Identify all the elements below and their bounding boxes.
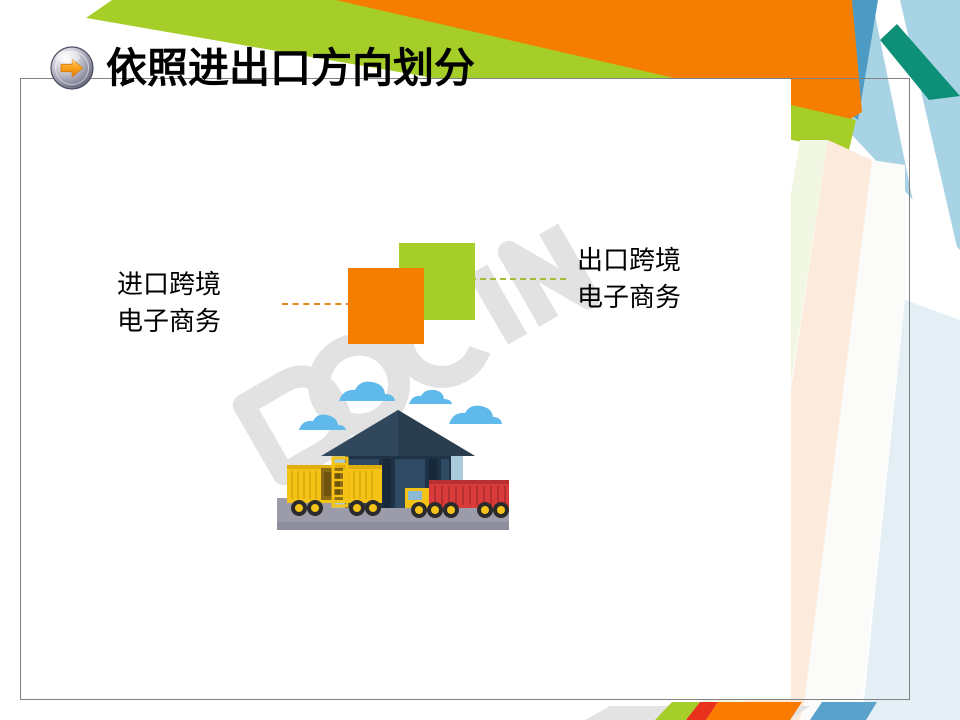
import-label: 进口跨境 电子商务 (117, 267, 221, 341)
warehouse-container-trucks-illustration (277, 360, 539, 545)
import-label-line1: 进口跨境 (117, 267, 221, 304)
presentation-slide: 依照进出口方向划分 进口跨境 电子商务 出口跨境 电子商务 (0, 0, 960, 720)
orange-square (348, 268, 424, 344)
export-label: 出口跨境 电子商务 (577, 243, 681, 317)
title-row: 依照进出口方向划分 (50, 46, 475, 90)
export-label-line2: 电子商务 (577, 280, 681, 317)
left-dashed-connector (282, 303, 352, 305)
page-title: 依照进出口方向划分 (106, 48, 475, 89)
deco-bottom-blue (810, 702, 877, 720)
warehouse-door-2 (383, 459, 391, 508)
orange-right-arrow-icon (50, 46, 94, 90)
deco-bottom-orange (706, 702, 802, 720)
yellow-container-truck (287, 458, 382, 516)
export-label-line1: 出口跨境 (577, 243, 681, 280)
right-dashed-connector (470, 278, 566, 280)
ground-shadow (277, 522, 509, 530)
deco-bottom-red (686, 702, 718, 720)
deco-bottom-green (655, 702, 700, 720)
import-label-line2: 电子商务 (117, 304, 221, 341)
deco-bottom-grey (585, 706, 810, 720)
